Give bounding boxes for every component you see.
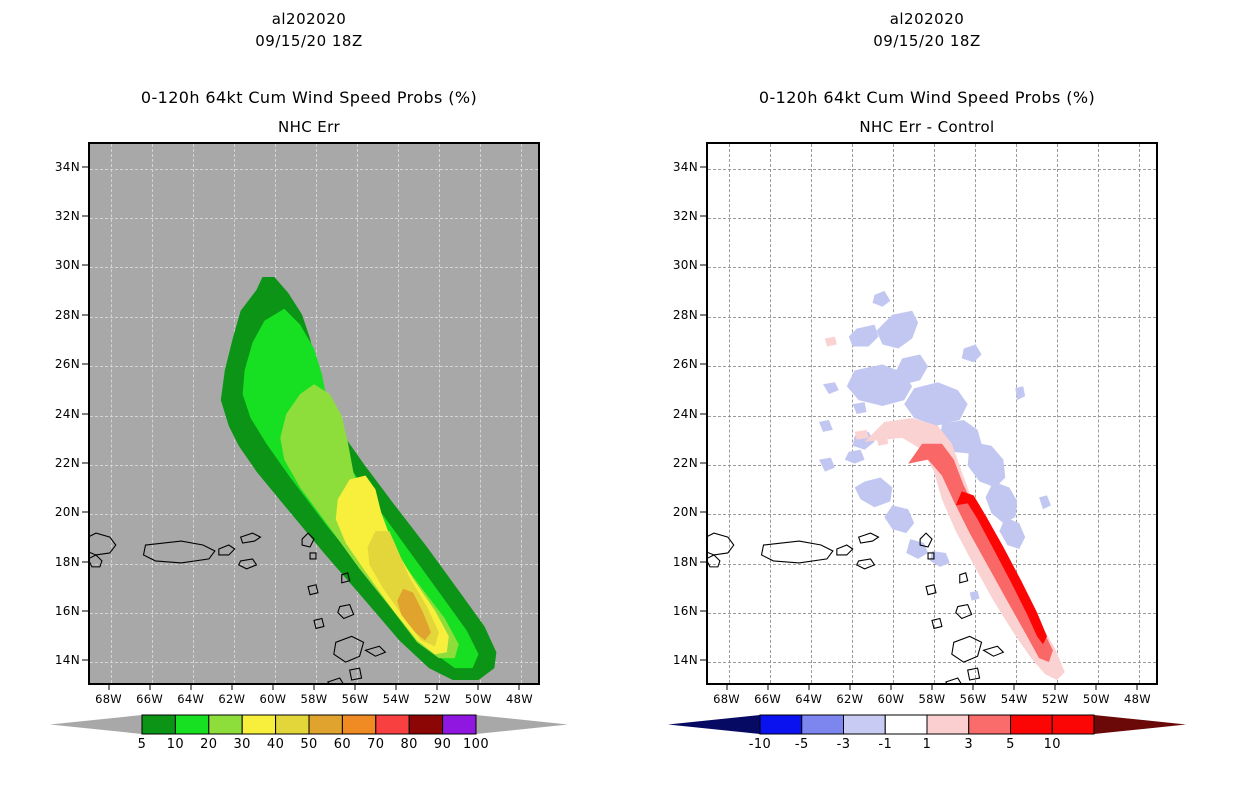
colorbar-tick-labels-left: 5102030405060708090100	[0, 737, 618, 757]
x-tick-mark	[973, 685, 974, 690]
y-tick-mark	[700, 364, 706, 365]
y-tick-mark	[82, 660, 88, 661]
colorbar-band[interactable]	[209, 715, 242, 734]
panel-nhc-err: al202020 09/15/20 18Z 0-120h 64kt Cum Wi…	[0, 0, 618, 800]
storm-id-right: al202020	[618, 10, 1236, 28]
colorbar-tick-label: 10	[167, 737, 184, 752]
y-axis-tick-label: 24N	[42, 407, 80, 421]
colorbar-band[interactable]	[443, 715, 476, 734]
x-tick-mark	[272, 685, 273, 690]
y-axis-tick-label: 16N	[42, 604, 80, 618]
y-tick-mark	[700, 314, 706, 315]
colorbar-tick-labels-right: -10-5-3-113510	[618, 737, 1236, 757]
x-tick-mark	[190, 685, 191, 690]
chart-title-right: 0-120h 64kt Cum Wind Speed Probs (%)	[618, 88, 1236, 107]
y-tick-mark	[82, 512, 88, 513]
colorbar-tick-label: 40	[267, 737, 284, 752]
y-tick-mark	[700, 512, 706, 513]
x-axis-tick-label: 48W	[506, 692, 533, 706]
colorbar-band[interactable]	[309, 715, 342, 734]
storm-id-left: al202020	[0, 10, 618, 28]
colorbar-tick-label: 50	[300, 737, 317, 752]
colorbar-swatches-left	[0, 710, 618, 738]
panel-nhc-err-control: al202020 09/15/20 18Z 0-120h 64kt Cum Wi…	[618, 0, 1236, 800]
x-axis-tick-label: 60W	[259, 692, 286, 706]
y-axis-tick-label: 20N	[42, 505, 80, 519]
colorbar-right-arrow	[476, 715, 568, 734]
chart-title-left: 0-120h 64kt Cum Wind Speed Probs (%)	[0, 88, 618, 107]
colorbar-tick-label: 5	[138, 737, 147, 752]
y-tick-mark	[82, 561, 88, 562]
colorbar-swatches-right	[618, 710, 1236, 738]
y-axis-tick-label: 18N	[42, 555, 80, 569]
y-axis-tick-label: 20N	[660, 505, 698, 519]
y-axis-tick-label: 34N	[660, 160, 698, 174]
y-axis-tick-label: 24N	[660, 407, 698, 421]
y-axis-tick-label: 30N	[660, 258, 698, 272]
colorbar-tick-label: -5	[795, 737, 809, 752]
y-tick-mark	[700, 561, 706, 562]
y-axis-tick-label: 32N	[660, 209, 698, 223]
x-axis-tick-label: 50W	[465, 692, 492, 706]
x-axis-tick-label: 66W	[136, 692, 163, 706]
y-axis-tick-label: 32N	[42, 209, 80, 223]
colorbar-tick-label: 20	[200, 737, 217, 752]
y-axis-tick-label: 26N	[42, 357, 80, 371]
x-axis-tick-label: 60W	[877, 692, 904, 706]
y-tick-mark	[700, 660, 706, 661]
coastlines-left	[90, 144, 538, 683]
colorbar-tick-label: 3	[964, 737, 973, 752]
x-axis-tick-label: 52W	[1042, 692, 1069, 706]
chart-subtitle-right: NHC Err - Control	[618, 118, 1236, 136]
x-axis-tick-label: 64W	[795, 692, 822, 706]
y-axis-tick-label: 18N	[660, 555, 698, 569]
x-axis-tick-label: 64W	[177, 692, 204, 706]
x-tick-mark	[108, 685, 109, 690]
x-tick-mark	[437, 685, 438, 690]
y-tick-mark	[82, 413, 88, 414]
y-tick-mark	[82, 610, 88, 611]
colorbar-band[interactable]	[376, 715, 409, 734]
map-plot-area-left[interactable]	[88, 142, 540, 685]
colorbar-tick-label: -1	[878, 737, 892, 752]
y-tick-mark	[700, 610, 706, 611]
y-axis-tick-label: 26N	[660, 357, 698, 371]
y-axis-tick-label: 28N	[42, 308, 80, 322]
y-tick-mark	[82, 166, 88, 167]
x-axis-tick-label: 66W	[754, 692, 781, 706]
x-tick-mark	[149, 685, 150, 690]
x-axis-tick-label: 58W	[301, 692, 328, 706]
colorbar-band[interactable]	[175, 715, 208, 734]
colorbar-tick-label: 30	[234, 737, 251, 752]
y-axis-tick-label: 34N	[42, 160, 80, 174]
colorbar-band[interactable]	[1052, 715, 1094, 734]
y-axis-tick-label: 16N	[660, 604, 698, 618]
x-tick-mark	[1055, 685, 1056, 690]
x-tick-mark	[355, 685, 356, 690]
y-axis-tick-label: 22N	[660, 456, 698, 470]
colorbar-tick-label: 90	[434, 737, 451, 752]
colorbar-right-arrow	[1094, 715, 1186, 734]
y-tick-mark	[700, 413, 706, 414]
x-axis-tick-label: 48W	[1124, 692, 1151, 706]
colorbar-tick-label: -10	[749, 737, 771, 752]
colorbar-tick-label: 10	[1044, 737, 1061, 752]
colorbar-band[interactable]	[342, 715, 375, 734]
x-tick-mark	[1014, 685, 1015, 690]
colorbar-tick-label: 80	[401, 737, 418, 752]
colorbar-tick-label: 100	[463, 737, 489, 752]
colorbar-band[interactable]	[409, 715, 442, 734]
colorbar-tick-label: 1	[923, 737, 932, 752]
colorbar-band[interactable]	[885, 715, 927, 734]
colorbar-band[interactable]	[142, 715, 175, 734]
x-tick-mark	[767, 685, 768, 690]
y-axis-tick-label: 22N	[42, 456, 80, 470]
x-axis-tick-label: 68W	[713, 692, 740, 706]
colorbar-left-arrow	[668, 715, 760, 734]
y-tick-mark	[700, 462, 706, 463]
x-tick-mark	[849, 685, 850, 690]
colorbar-tick-label: -3	[837, 737, 851, 752]
y-axis-tick-label: 30N	[42, 258, 80, 272]
x-tick-mark	[890, 685, 891, 690]
y-tick-mark	[82, 216, 88, 217]
colorbar-band[interactable]	[242, 715, 275, 734]
colorbar-band[interactable]	[927, 715, 969, 734]
colorbar-band[interactable]	[760, 715, 802, 734]
colorbar-right[interactable]: -10-5-3-113510	[618, 710, 1236, 770]
datetime-right: 09/15/20 18Z	[618, 32, 1236, 50]
x-axis-tick-label: 58W	[919, 692, 946, 706]
y-tick-mark	[82, 265, 88, 266]
coastlines-right	[708, 144, 1156, 683]
y-tick-mark	[700, 166, 706, 167]
colorbar-band[interactable]	[844, 715, 886, 734]
x-tick-mark	[1096, 685, 1097, 690]
x-axis-tick-label: 62W	[836, 692, 863, 706]
x-tick-mark	[932, 685, 933, 690]
map-plot-area-right[interactable]	[706, 142, 1158, 685]
x-axis-tick-label: 68W	[95, 692, 122, 706]
x-tick-mark	[314, 685, 315, 690]
colorbar-band[interactable]	[802, 715, 844, 734]
y-axis-tick-label: 14N	[42, 653, 80, 667]
x-axis-tick-label: 62W	[218, 692, 245, 706]
colorbar-band[interactable]	[1011, 715, 1053, 734]
y-axis-tick-label: 14N	[660, 653, 698, 667]
colorbar-band[interactable]	[276, 715, 309, 734]
x-tick-mark	[396, 685, 397, 690]
x-axis-tick-label: 50W	[1083, 692, 1110, 706]
x-axis-tick-label: 56W	[960, 692, 987, 706]
x-axis-tick-label: 56W	[342, 692, 369, 706]
y-tick-mark	[82, 314, 88, 315]
x-tick-mark	[808, 685, 809, 690]
y-axis-tick-label: 28N	[660, 308, 698, 322]
colorbar-band[interactable]	[969, 715, 1011, 734]
colorbar-tick-label: 5	[1006, 737, 1015, 752]
datetime-left: 09/15/20 18Z	[0, 32, 618, 50]
x-axis-tick-label: 54W	[1001, 692, 1028, 706]
x-tick-mark	[231, 685, 232, 690]
x-tick-mark	[726, 685, 727, 690]
chart-subtitle-left: NHC Err	[0, 118, 618, 136]
x-tick-mark	[1137, 685, 1138, 690]
colorbar-tick-label: 60	[334, 737, 351, 752]
colorbar-tick-label: 70	[367, 737, 384, 752]
x-axis-tick-label: 54W	[383, 692, 410, 706]
x-tick-mark	[519, 685, 520, 690]
x-axis-tick-label: 52W	[424, 692, 451, 706]
y-tick-mark	[700, 265, 706, 266]
y-tick-mark	[82, 462, 88, 463]
y-tick-mark	[700, 216, 706, 217]
y-tick-mark	[82, 364, 88, 365]
colorbar-left[interactable]: 5102030405060708090100	[0, 710, 618, 770]
x-tick-mark	[478, 685, 479, 690]
colorbar-left-arrow	[50, 715, 142, 734]
